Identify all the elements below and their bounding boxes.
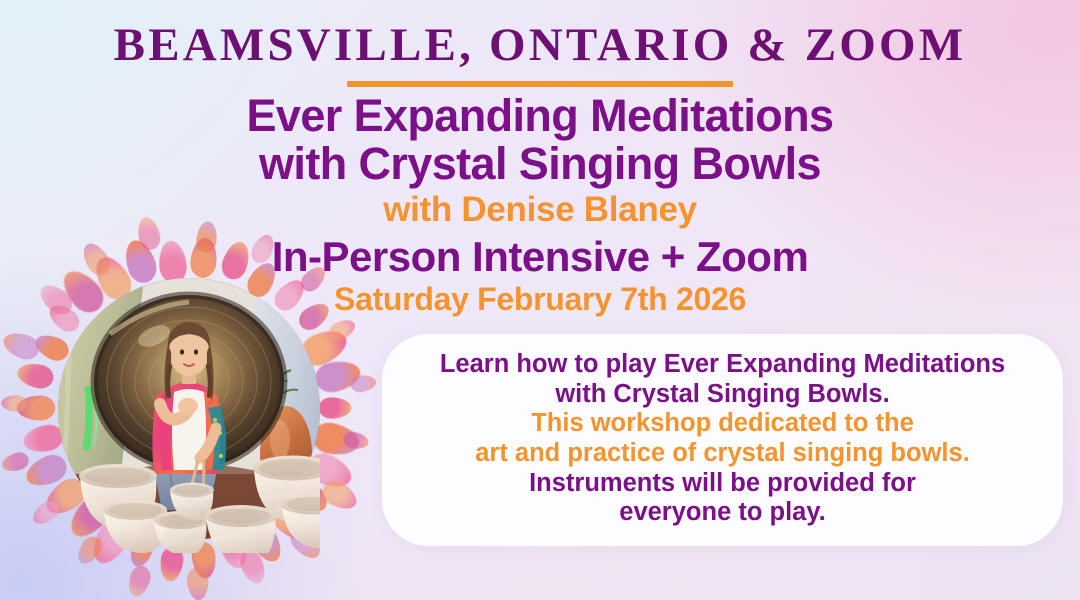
header: BEAMSVILLE, ONTARIO & ZOOM <box>0 20 1080 87</box>
headline-presenter: with Denise Blaney <box>0 187 1080 233</box>
description-line-1: Learn how to play Ever Expanding Meditat… <box>440 350 1005 380</box>
description-line-4: art and practice of crystal singing bowl… <box>475 439 970 469</box>
presenter-photo-illustration <box>58 278 320 540</box>
petal-icon <box>186 567 209 600</box>
headline-line-2: with Crystal Singing Bowls <box>0 140 1080 188</box>
petal-icon <box>0 328 43 363</box>
petal-icon <box>159 546 185 583</box>
description-line-5: Instruments will be provided for <box>529 469 916 499</box>
petal-icon <box>349 373 377 393</box>
description-line-3: This workshop dedicated to the <box>531 409 914 439</box>
headline-line-1: Ever Expanding Meditations <box>0 92 1080 140</box>
description-card: Learn how to play Ever Expanding Meditat… <box>382 334 1063 546</box>
petal-icon <box>1 395 27 412</box>
header-divider <box>347 81 733 87</box>
petal-icon <box>126 532 156 570</box>
description-line-2: with Crystal Singing Bowls. <box>555 380 889 410</box>
petal-icon <box>0 450 31 475</box>
description-line-6: everyone to play. <box>619 498 825 528</box>
location-title: BEAMSVILLE, ONTARIO & ZOOM <box>0 20 1080 71</box>
photo-medallion <box>8 228 368 588</box>
petal-icon <box>125 564 153 600</box>
promo-banner: BEAMSVILLE, ONTARIO & ZOOM Ever Expandin… <box>0 0 1080 600</box>
petal-icon <box>295 298 334 335</box>
presenter-photo <box>58 278 320 540</box>
petal-icon <box>218 238 254 282</box>
petal-icon <box>319 397 352 418</box>
petal-icon <box>248 231 278 266</box>
petal-icon <box>15 360 56 391</box>
